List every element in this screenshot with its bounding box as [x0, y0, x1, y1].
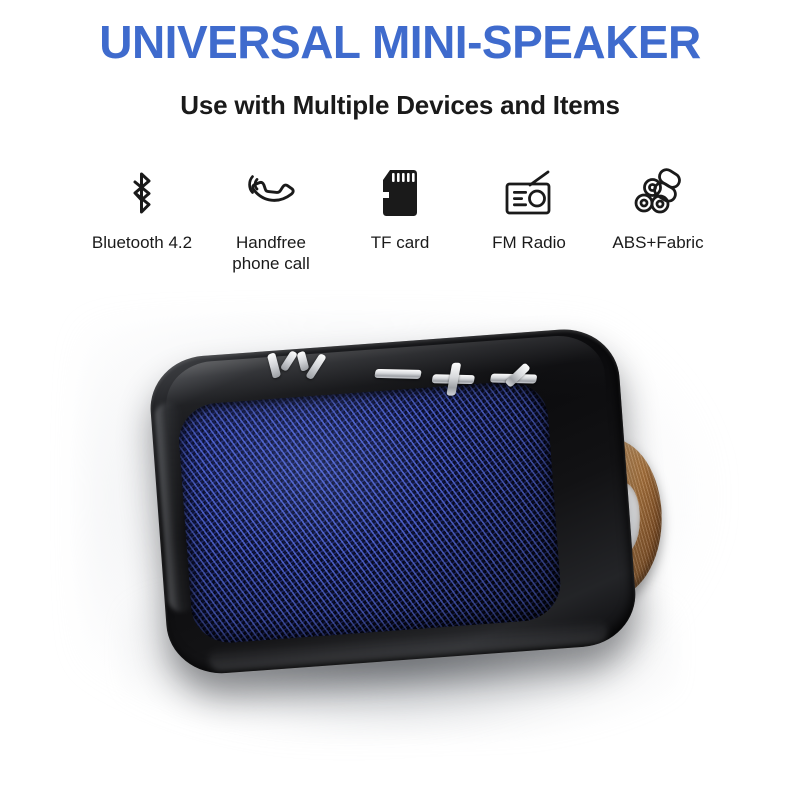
page-subtitle: Use with Multiple Devices and Items [0, 90, 800, 121]
product-banner: UNIVERSAL MINI-SPEAKER Use with Multiple… [0, 0, 800, 800]
fabric-speaker-grille [176, 379, 563, 645]
mode-button[interactable] [267, 345, 326, 374]
mode-button-stroke [297, 351, 310, 372]
volume-down-button[interactable] [374, 369, 422, 379]
fabric-rolls-icon [632, 168, 684, 218]
mode-button-stroke [267, 352, 281, 379]
feature-label: TF card [371, 232, 430, 253]
feature-item-abs-fabric: ABS+Fabric [594, 168, 722, 253]
feature-item-handfree-phone: Handfree phone call [207, 168, 335, 275]
bluetooth-speaker [147, 325, 649, 679]
bluetooth-icon [122, 168, 162, 218]
feature-item-tf-card: TF card [336, 168, 464, 253]
feature-label: FM Radio [492, 232, 566, 253]
grille-sheen [176, 379, 563, 645]
page-title: UNIVERSAL MINI-SPEAKER [0, 18, 800, 66]
feature-item-bluetooth: Bluetooth 4.2 [78, 168, 206, 253]
phone-call-icon [245, 168, 297, 218]
feature-item-fm-radio: FM Radio [465, 168, 593, 253]
feature-list: Bluetooth 4.2 Handfree phone call [78, 168, 722, 275]
mode-button-stroke [280, 350, 298, 371]
feature-label: Bluetooth 4.2 [92, 232, 192, 253]
feature-label: ABS+Fabric [612, 232, 703, 253]
product-image [0, 300, 800, 800]
control-button-row [262, 345, 540, 407]
tf-card-icon [379, 168, 421, 218]
feature-label: Handfree phone call [232, 232, 310, 275]
fm-radio-icon [502, 168, 556, 218]
